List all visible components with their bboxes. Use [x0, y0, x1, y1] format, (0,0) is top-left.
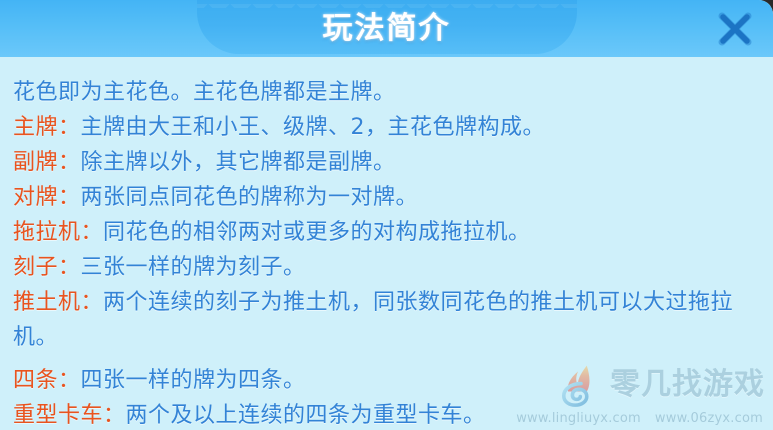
- rule-text: 花色即为主花色。主花色牌都是主牌。: [13, 80, 396, 105]
- rule-text: 主牌由大王和小王、级牌、2，主花色牌构成。: [81, 115, 546, 140]
- rule-line: 主牌：主牌由大王和小王、级牌、2，主花色牌构成。: [13, 110, 759, 145]
- rule-keyword: 对牌：: [13, 185, 81, 210]
- rule-keyword: 重型卡车：: [13, 403, 126, 428]
- rule-keyword: 推土机：: [13, 290, 103, 315]
- rule-line: 对牌：两张同点同花色的牌称为一对牌。: [13, 180, 759, 215]
- rule-line: 重型卡车：两个及以上连续的四条为重型卡车。: [13, 398, 759, 430]
- rule-line: 四条：四张一样的牌为四条。: [13, 363, 759, 398]
- rule-line: 花色即为主花色。主花色牌都是主牌。: [13, 75, 759, 110]
- rule-keyword: 刻子：: [13, 255, 81, 280]
- rule-keyword: 主牌：: [13, 115, 81, 140]
- page-title: 玩法简介: [0, 0, 773, 57]
- rule-keyword: 副牌：: [13, 150, 81, 175]
- rule-text: 两个及以上连续的四条为重型卡车。: [126, 403, 486, 428]
- rules-content: 花色即为主花色。主花色牌都是主牌。主牌：主牌由大王和小王、级牌、2，主花色牌构成…: [0, 57, 773, 430]
- rule-line: 拖拉机：同花色的相邻两对或更多的对构成拖拉机。: [13, 215, 759, 250]
- dialog-titlebar: 玩法简介: [0, 0, 773, 57]
- rule-keyword: 拖拉机：: [13, 220, 103, 245]
- close-icon: [713, 7, 757, 51]
- rule-line: 副牌：除主牌以外，其它牌都是副牌。: [13, 145, 759, 180]
- rule-text: 两张同点同花色的牌称为一对牌。: [81, 185, 419, 210]
- close-button[interactable]: [713, 7, 757, 51]
- gameplay-intro-dialog: 玩法简介 花色即为主花色。主花色牌都是主牌。主牌：主牌由大王和小王、级牌、2，主…: [0, 0, 773, 430]
- rule-line: 刻子：三张一样的牌为刻子。: [13, 250, 759, 285]
- rule-text: 除主牌以外，其它牌都是副牌。: [81, 150, 396, 175]
- rule-text: 两个连续的刻子为推土机，同张数同花色的推土机可以大过拖拉机。: [13, 290, 733, 350]
- rule-separator: [13, 355, 759, 363]
- rule-keyword: 四条：: [13, 368, 81, 393]
- rule-text: 四张一样的牌为四条。: [81, 368, 306, 393]
- rules-list: 花色即为主花色。主花色牌都是主牌。主牌：主牌由大王和小王、级牌、2，主花色牌构成…: [13, 75, 759, 430]
- rule-line: 推土机：两个连续的刻子为推土机，同张数同花色的推土机可以大过拖拉机。: [13, 285, 759, 355]
- rule-text: 同花色的相邻两对或更多的对构成拖拉机。: [103, 220, 531, 245]
- rule-text: 三张一样的牌为刻子。: [81, 255, 306, 280]
